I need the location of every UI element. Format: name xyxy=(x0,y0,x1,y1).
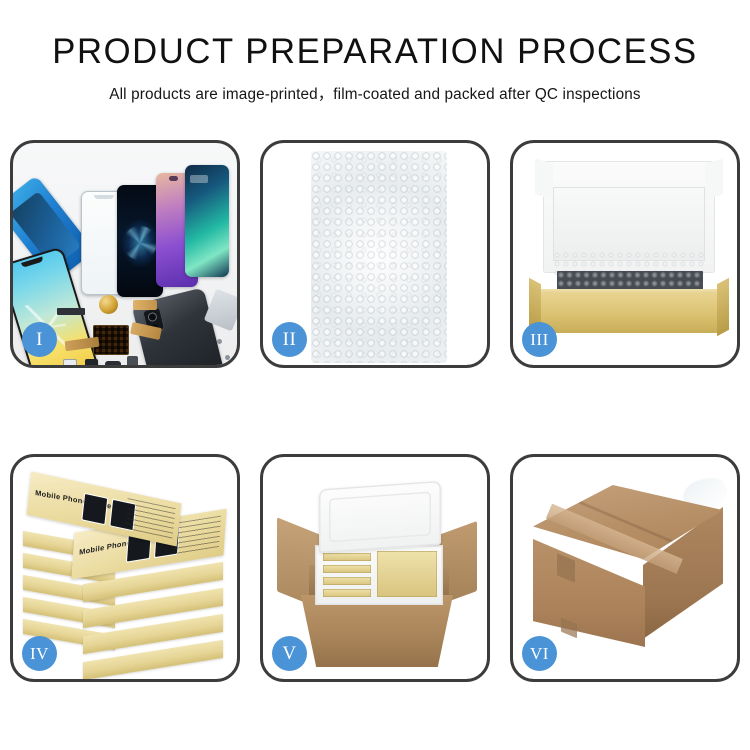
carton-body xyxy=(301,595,453,667)
carton-front-face xyxy=(533,539,645,647)
packed-box-4 xyxy=(323,589,371,597)
step-badge-2: II xyxy=(272,322,307,357)
flex-cable-part-1 xyxy=(133,300,157,310)
small-module-3 xyxy=(127,356,138,365)
step-badge-1: I xyxy=(22,322,57,357)
yellow-tray-box xyxy=(539,293,719,333)
steps-grid: I II II xyxy=(10,140,740,682)
foam-inner-sheet xyxy=(553,187,705,261)
header: PRODUCT PREPARATION PROCESS All products… xyxy=(0,0,750,104)
step-panel-3[interactable]: III xyxy=(510,140,740,368)
step-panel-6[interactable]: VI xyxy=(510,454,740,682)
gold-speaker-part xyxy=(99,295,118,314)
box-spec-lines-1 xyxy=(124,498,175,539)
box-window-1 xyxy=(81,493,108,525)
page-subtitle: All products are image-printed，film-coat… xyxy=(0,71,750,104)
screw-1 xyxy=(217,339,222,344)
teal-phone xyxy=(185,165,229,277)
foam-box-lid xyxy=(319,481,441,554)
step-badge-5: V xyxy=(272,636,307,671)
step-badge-4: IV xyxy=(22,636,57,671)
battery-bar-part xyxy=(57,308,85,315)
packed-box-1 xyxy=(323,553,371,561)
step-panel-5[interactable]: V xyxy=(260,454,490,682)
small-module-1 xyxy=(85,359,98,365)
small-module-2 xyxy=(105,361,121,365)
step-panel-4[interactable]: Mobile Phone Spare Parts Mobile Phone Sp… xyxy=(10,454,240,682)
step-panel-2[interactable]: II xyxy=(260,140,490,368)
step-panel-1[interactable]: I xyxy=(10,140,240,368)
step-badge-3: III xyxy=(522,322,557,357)
page-title: PRODUCT PREPARATION PROCESS xyxy=(4,0,747,71)
open-carton xyxy=(277,479,477,667)
step-badge-6: VI xyxy=(522,636,557,671)
packed-box-2 xyxy=(323,565,371,573)
product-preparation-infographic: PRODUCT PREPARATION PROCESS All products… xyxy=(0,0,750,750)
packed-box-3 xyxy=(323,577,371,585)
packed-box-group-right xyxy=(377,551,437,597)
screw-2 xyxy=(225,355,230,360)
sealed-carton xyxy=(533,485,723,649)
bubble-texture-layer-2 xyxy=(311,151,447,363)
bubble-wrap-bag xyxy=(311,151,447,363)
sim-tray-part xyxy=(63,359,77,365)
